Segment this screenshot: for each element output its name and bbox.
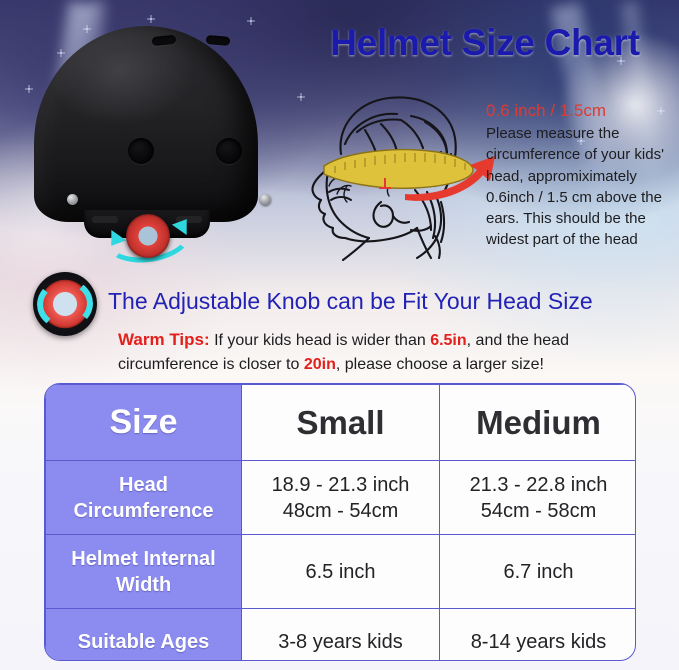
row-label-suitable-ages: Suitable Ages <box>46 609 242 662</box>
head-profile-icon <box>285 82 500 267</box>
row-label-head-circumference: Head Circumference <box>46 461 242 535</box>
warm-tips: Warm Tips: If your kids head is wider th… <box>118 328 670 376</box>
column-header-small: Small <box>242 385 440 461</box>
measurement-value: 0.6 inch / 1.5cm <box>486 100 676 123</box>
table-header-row: Size Small Medium <box>46 385 637 461</box>
warm-tips-highlight-width: 6.5in <box>430 332 466 349</box>
column-header-medium: Medium <box>440 385 637 461</box>
measuring-tape-icon <box>324 150 473 189</box>
strap-slot-icon <box>92 216 118 223</box>
adjustable-knob-badge-icon <box>33 272 97 336</box>
rivet-icon <box>260 194 271 205</box>
helmet-adjustable-knob-icon <box>126 214 170 258</box>
measurement-callout: 0.6 inch / 1.5cm Please measure the circ… <box>486 100 676 251</box>
table-row: Helmet Internal Width 6.5 inch 6.7 inch <box>46 535 637 609</box>
measurement-instruction: Please measure the circumference of your… <box>486 123 676 251</box>
helmet-image <box>10 22 280 262</box>
rivet-icon <box>67 194 78 205</box>
side-hole-icon <box>216 138 242 164</box>
warm-tips-part1: If your kids head is wider than <box>210 332 431 349</box>
page-title: Helmet Size Chart <box>300 22 670 64</box>
table-row: Suitable Ages 3-8 years kids 8-14 years … <box>46 609 637 662</box>
cell-head-circumference-small: 18.9 - 21.3 inch 48cm - 54cm <box>242 461 440 535</box>
row-label-helmet-internal-width: Helmet Internal Width <box>46 535 242 609</box>
cell-head-circumference-medium: 21.3 - 22.8 inch 54cm - 58cm <box>440 461 637 535</box>
table-row: Head Circumference 18.9 - 21.3 inch 48cm… <box>46 461 637 535</box>
helmet-shell <box>34 26 258 222</box>
side-hole-icon <box>128 138 154 164</box>
size-chart-table: Size Small Medium Head Circumference 18.… <box>44 383 636 661</box>
cell-helmet-internal-width-small: 6.5 inch <box>242 535 440 609</box>
vent-icon <box>152 35 177 46</box>
adjustable-knob-headline: The Adjustable Knob can be Fit Your Head… <box>108 288 668 315</box>
warm-tips-part3: , please choose a larger size! <box>336 356 544 373</box>
warm-tips-label: Warm Tips: <box>118 330 210 349</box>
knob-arrow-right-icon <box>35 276 96 332</box>
cell-suitable-ages-medium: 8-14 years kids <box>440 609 637 662</box>
cell-suitable-ages-small: 3-8 years kids <box>242 609 440 662</box>
cell-helmet-internal-width-medium: 6.7 inch <box>440 535 637 609</box>
column-header-size: Size <box>46 385 242 461</box>
head-measurement-diagram <box>285 82 500 267</box>
warm-tips-highlight-circumference: 20in <box>304 356 336 373</box>
vent-icon <box>206 35 231 46</box>
